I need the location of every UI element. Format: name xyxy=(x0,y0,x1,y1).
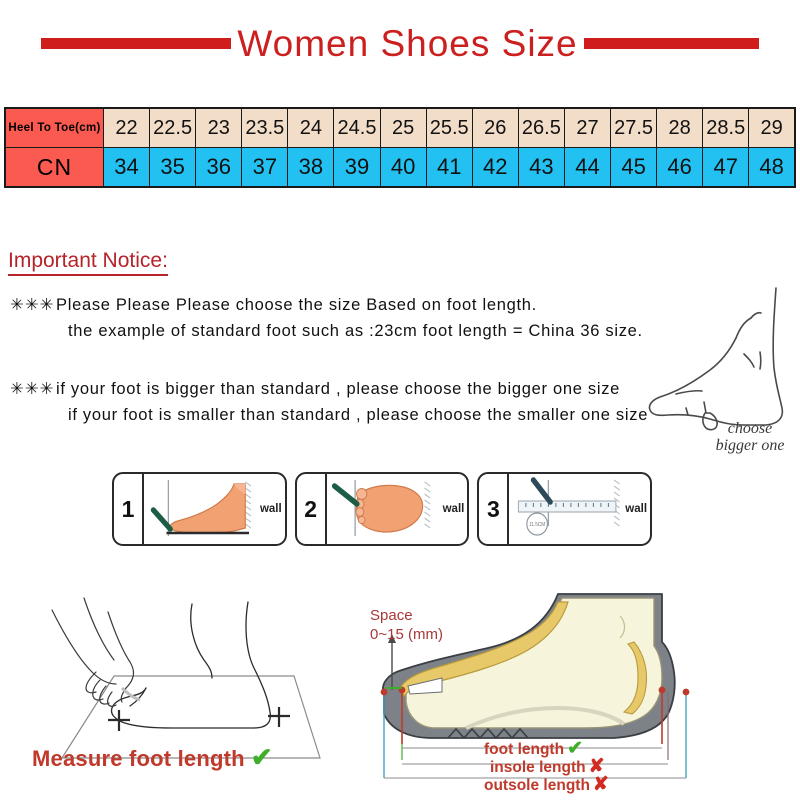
notice-text: if your foot is bigger than standard , p… xyxy=(56,380,620,398)
cell-heel-to-toe: 23 xyxy=(196,108,242,148)
cell-cn-size: 44 xyxy=(564,148,610,188)
cell-cn-size: 39 xyxy=(334,148,380,188)
cell-cn-size: 40 xyxy=(380,148,426,188)
size-chart-table: Heel To Toe(cm) 2222.52323.52424.52525.5… xyxy=(4,107,796,188)
cell-cn-size: 41 xyxy=(426,148,472,188)
measure-label-text: Measure foot length xyxy=(32,746,245,771)
length-row-outsole: outsole length✘ xyxy=(484,776,609,794)
step-illustration-ruler: 11.5CM wall xyxy=(509,474,650,544)
cross-icon: ✘ xyxy=(593,774,609,795)
row-header-cn: CN xyxy=(5,148,104,188)
space-line-1: Space xyxy=(370,607,413,624)
bullet-asterisks: ✳✳✳ xyxy=(10,292,56,318)
space-annotation: Space 0~15 (mm) xyxy=(370,606,443,644)
cell-heel-to-toe: 25 xyxy=(380,108,426,148)
notice-block-2: ✳✳✳if your foot is bigger than standard … xyxy=(10,376,648,428)
cell-cn-size: 35 xyxy=(150,148,196,188)
wall-label: wall xyxy=(443,503,465,515)
length-label: foot length xyxy=(484,741,564,758)
cell-heel-to-toe: 24.5 xyxy=(334,108,380,148)
notice-text: if your foot is smaller than standard , … xyxy=(68,406,648,424)
cell-cn-size: 37 xyxy=(242,148,288,188)
page-title-row: Women Shoes Size xyxy=(0,16,800,70)
notice-line: the example of standard foot such as :23… xyxy=(10,318,643,344)
cell-heel-to-toe: 22.5 xyxy=(150,108,196,148)
cell-cn-size: 38 xyxy=(288,148,334,188)
title-rule-right xyxy=(584,38,759,49)
ruler-badge-text: 11.5CM xyxy=(529,522,545,528)
check-icon: ✔ xyxy=(567,738,583,759)
measurement-steps: 1 wall 2 xyxy=(112,472,652,546)
cell-heel-to-toe: 25.5 xyxy=(426,108,472,148)
step-illustration-side-foot: wall xyxy=(144,474,285,544)
notice-text: the example of standard foot such as :23… xyxy=(68,322,643,340)
cell-heel-to-toe: 26.5 xyxy=(518,108,564,148)
cell-heel-to-toe: 24 xyxy=(288,108,334,148)
notice-text: Please Please Please choose the size Bas… xyxy=(56,296,537,314)
step-panel-1: 1 wall xyxy=(112,472,287,546)
cell-heel-to-toe: 22 xyxy=(104,108,150,148)
title-rule-left xyxy=(41,38,231,49)
length-label: insole length xyxy=(490,759,586,776)
cell-cn-size: 42 xyxy=(472,148,518,188)
notice-heading: Important Notice: xyxy=(8,249,168,276)
notice-line: ✳✳✳Please Please Please choose the size … xyxy=(10,292,643,318)
caption-line-1: choose xyxy=(728,420,772,437)
page-title: Women Shoes Size xyxy=(231,25,583,62)
space-line-2: 0~15 (mm) xyxy=(370,626,443,643)
table-row-cm: Heel To Toe(cm) 2222.52323.52424.52525.5… xyxy=(5,108,795,148)
step-number: 3 xyxy=(479,474,509,544)
notice-line: ✳✳✳if your foot is bigger than standard … xyxy=(10,376,648,402)
notice-line: if your foot is smaller than standard , … xyxy=(10,402,648,428)
cell-cn-size: 48 xyxy=(749,148,795,188)
step-number: 2 xyxy=(297,474,327,544)
caption-line-2: bigger one xyxy=(716,437,785,454)
step-illustration-top-foot: wall xyxy=(327,474,468,544)
notice-block-1: ✳✳✳Please Please Please choose the size … xyxy=(10,292,643,344)
cell-heel-to-toe: 28 xyxy=(657,108,703,148)
cell-heel-to-toe: 28.5 xyxy=(703,108,749,148)
cell-cn-size: 46 xyxy=(657,148,703,188)
wall-label: wall xyxy=(260,503,282,515)
cell-cn-size: 43 xyxy=(518,148,564,188)
cell-heel-to-toe: 23.5 xyxy=(242,108,288,148)
length-annotations: foot length✔ insole length✘ outsole leng… xyxy=(484,740,609,794)
cell-heel-to-toe: 27 xyxy=(564,108,610,148)
check-icon: ✔ xyxy=(251,742,273,772)
step-panel-3: 3 11.5C xyxy=(477,472,652,546)
cell-heel-to-toe: 27.5 xyxy=(611,108,657,148)
cell-cn-size: 47 xyxy=(703,148,749,188)
cell-cn-size: 45 xyxy=(611,148,657,188)
length-row-insole: insole length✘ xyxy=(484,758,609,776)
step-panel-2: 2 wall xyxy=(295,472,470,546)
choose-bigger-caption: choose bigger one xyxy=(690,420,800,454)
cell-heel-to-toe: 26 xyxy=(472,108,518,148)
wall-label: wall xyxy=(625,503,647,515)
cell-cn-size: 34 xyxy=(104,148,150,188)
step-number: 1 xyxy=(114,474,144,544)
cell-heel-to-toe: 29 xyxy=(749,108,795,148)
bullet-asterisks: ✳✳✳ xyxy=(10,376,56,402)
table-row-cn: CN 343536373839404142434445464748 xyxy=(5,148,795,188)
measure-foot-length-label: Measure foot length✔ xyxy=(32,742,273,773)
cell-cn-size: 36 xyxy=(196,148,242,188)
row-header-heel-to-toe: Heel To Toe(cm) xyxy=(5,108,104,148)
length-label: outsole length xyxy=(484,777,590,794)
